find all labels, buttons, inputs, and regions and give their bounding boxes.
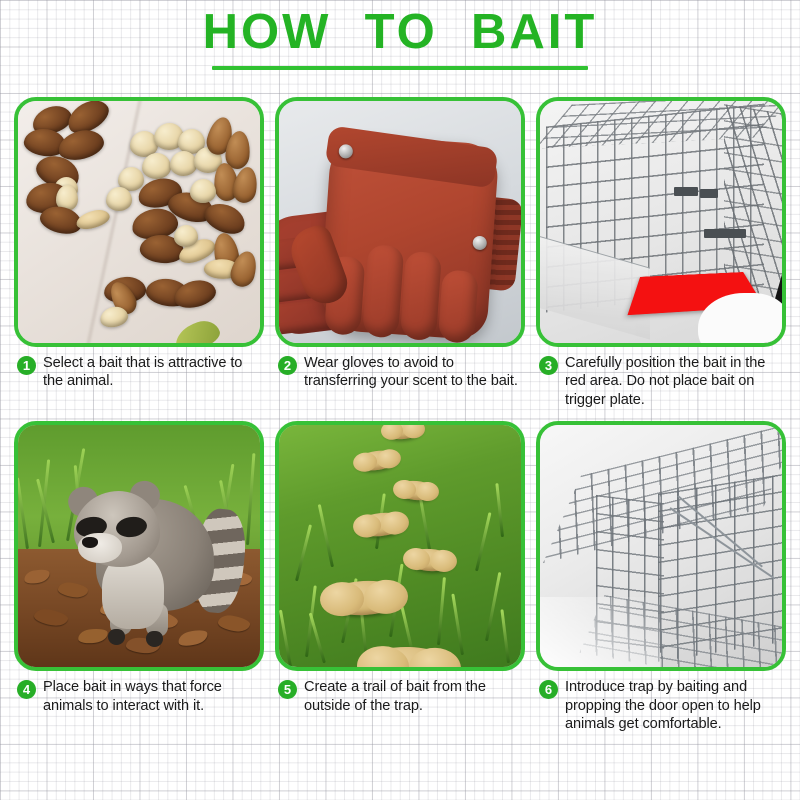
leather-gloves-image (279, 101, 521, 343)
step-caption-text-4: Place bait in ways that force animals to… (43, 678, 264, 715)
step-number-badge-2: 2 (278, 356, 297, 375)
step-caption-text-2: Wear gloves to avoid to transferring you… (304, 354, 525, 391)
step-photo-6[interactable] (536, 421, 786, 671)
step-card-6: 6 Introduce trap by baiting and propping… (536, 421, 786, 733)
step-photo-2[interactable] (275, 97, 525, 347)
step-photo-1[interactable] (14, 97, 264, 347)
raccoon-image (18, 425, 260, 667)
cage-trap-red-area-image (540, 101, 782, 343)
step-number-badge-5: 5 (278, 680, 297, 699)
step-number-badge-6: 6 (539, 680, 558, 699)
step-caption-1: 1 Select a bait that is attractive to th… (14, 354, 264, 391)
step-card-4: 4 Place bait in ways that force animals … (14, 421, 264, 733)
title-underline (212, 66, 588, 70)
step-number-badge-1: 1 (17, 356, 36, 375)
step-card-1: 1 Select a bait that is attractive to th… (14, 97, 264, 409)
step-caption-3: 3 Carefully position the bait in the red… (536, 354, 786, 409)
step-card-2: 2 Wear gloves to avoid to transferring y… (275, 97, 525, 409)
step-photo-3[interactable] (536, 97, 786, 347)
step-card-5: 5 Create a trail of bait from the outsid… (275, 421, 525, 733)
step-caption-text-3: Carefully position the bait in the red a… (565, 354, 786, 409)
peanut-trail-image (279, 425, 521, 667)
page-title: HOW TO BAIT (0, 6, 800, 59)
step-caption-text-6: Introduce trap by baiting and propping t… (565, 678, 786, 733)
infographic-page: HOW TO BAIT (0, 0, 800, 800)
step-caption-text-5: Create a trail of bait from the outside … (304, 678, 525, 715)
steps-grid: 1 Select a bait that is attractive to th… (14, 97, 786, 733)
step-caption-2: 2 Wear gloves to avoid to transferring y… (275, 354, 525, 391)
step-photo-4[interactable] (14, 421, 264, 671)
step-card-3: 3 Carefully position the bait in the red… (536, 97, 786, 409)
step-number-badge-4: 4 (17, 680, 36, 699)
step-caption-4: 4 Place bait in ways that force animals … (14, 678, 264, 715)
mixed-nuts-image (18, 101, 260, 343)
step-photo-5[interactable] (275, 421, 525, 671)
step-number-badge-3: 3 (539, 356, 558, 375)
step-caption-6: 6 Introduce trap by baiting and propping… (536, 678, 786, 733)
step-caption-5: 5 Create a trail of bait from the outsid… (275, 678, 525, 715)
page-header: HOW TO BAIT (0, 6, 800, 70)
step-caption-text-1: Select a bait that is attractive to the … (43, 354, 264, 391)
trap-door-open-image (540, 425, 782, 667)
